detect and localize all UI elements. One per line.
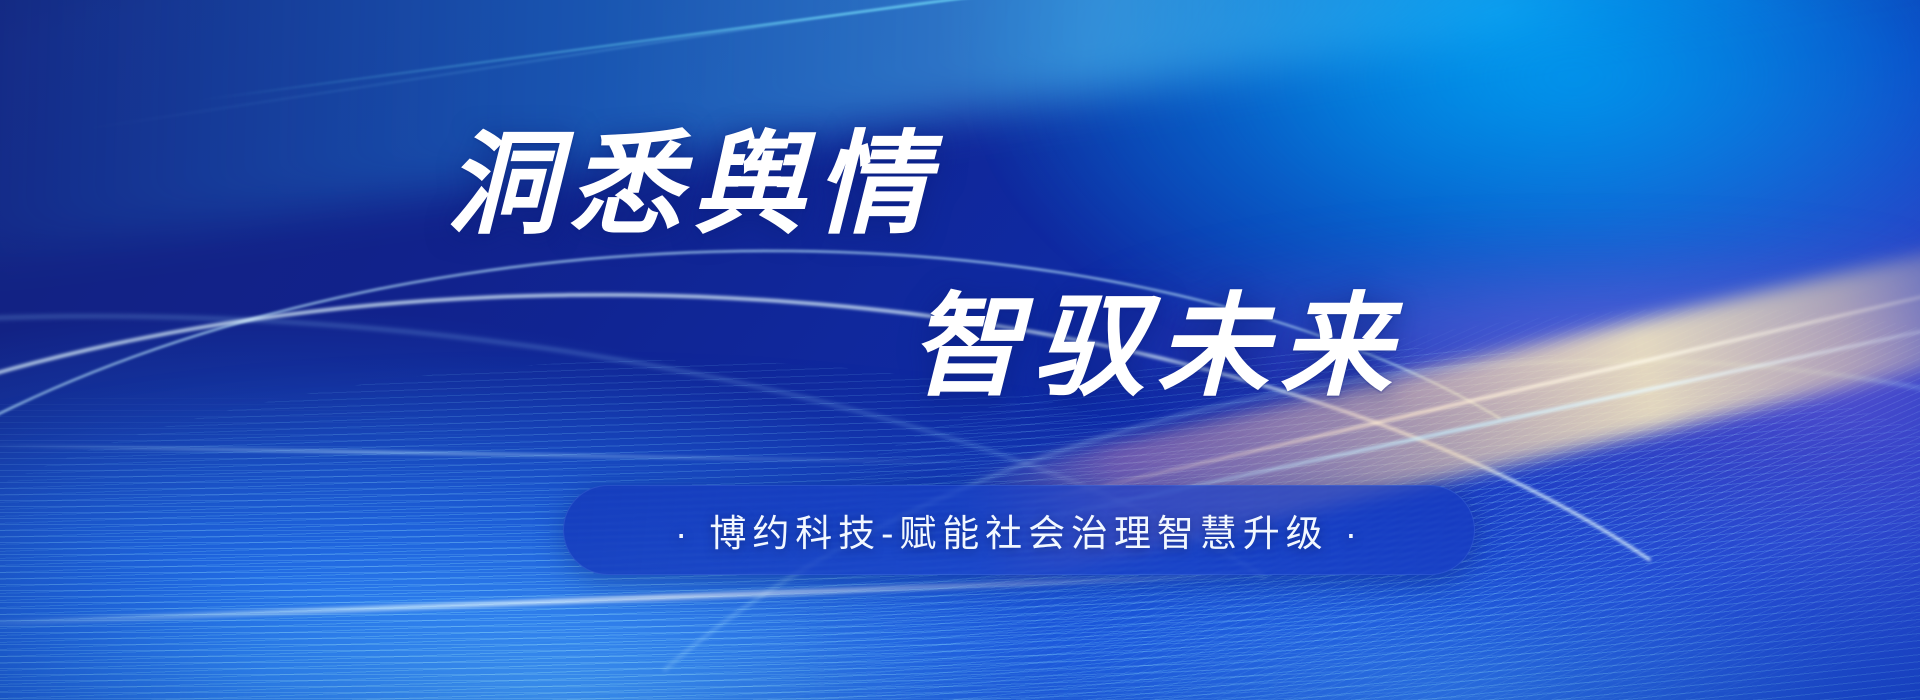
hero-banner: 洞悉舆情 智驭未来 · 博约科技-赋能社会治理智慧升级 ·: [0, 0, 1920, 700]
headline-line-2: 智驭未来: [910, 290, 1403, 408]
subtitle-text: · 博约科技-赋能社会治理智慧升级 ·: [675, 503, 1363, 557]
headline-line-1: 洞悉舆情: [446, 128, 939, 246]
banner-content: 洞悉舆情 智驭未来 · 博约科技-赋能社会治理智慧升级 ·: [0, 0, 1920, 700]
subtitle-pill: · 博约科技-赋能社会治理智慧升级 ·: [563, 485, 1475, 575]
